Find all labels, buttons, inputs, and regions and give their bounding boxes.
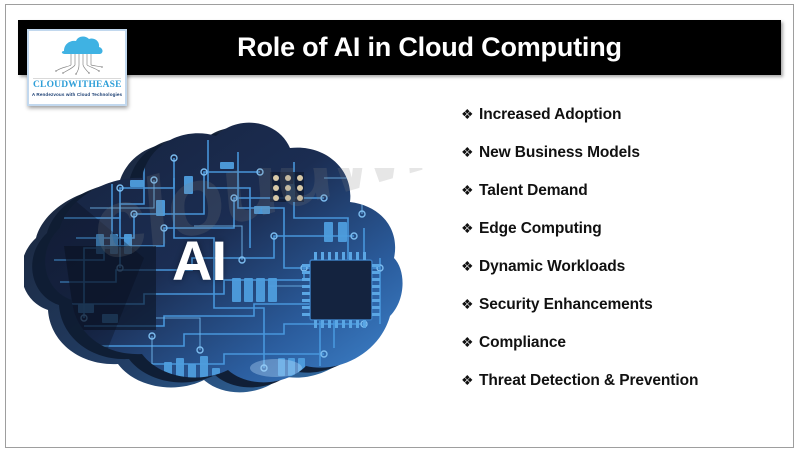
brand-name: CLOUDWITHEASE — [33, 78, 121, 90]
ai-center-label: AI — [172, 233, 226, 289]
list-item-label: Dynamic Workloads — [479, 258, 625, 276]
slide-canvas: Role of AI in Cloud Computing — [0, 0, 800, 454]
page-title: Role of AI in Cloud Computing — [177, 32, 622, 63]
list-item[interactable]: ❖ Security Enhancements — [461, 296, 781, 334]
list-item-label: Compliance — [479, 334, 566, 352]
list-item[interactable]: ❖ Threat Detection & Prevention — [461, 372, 781, 410]
diamond-bullet-icon: ❖ — [461, 335, 479, 349]
brand-tagline: A Rendezvous with Cloud Technologies — [32, 92, 122, 97]
cloud-roots-icon — [40, 33, 114, 77]
list-item[interactable]: ❖ Dynamic Workloads — [461, 258, 781, 296]
key-points-list: ❖ Increased Adoption ❖ New Business Mode… — [461, 106, 781, 410]
list-item-label: Edge Computing — [479, 220, 602, 238]
brand-logo[interactable]: CLOUDWITHEASE A Rendezvous with Cloud Te… — [27, 29, 127, 106]
list-item-label: Threat Detection & Prevention — [479, 372, 698, 390]
list-item-label: Talent Demand — [479, 182, 588, 200]
list-item[interactable]: ❖ Talent Demand — [461, 182, 781, 220]
list-item[interactable]: ❖ New Business Models — [461, 144, 781, 182]
diamond-bullet-icon: ❖ — [461, 183, 479, 197]
diamond-bullet-icon: ❖ — [461, 259, 479, 273]
title-bar: Role of AI in Cloud Computing — [18, 20, 781, 75]
list-item[interactable]: ❖ Edge Computing — [461, 220, 781, 258]
list-item-label: Security Enhancements — [479, 296, 653, 314]
list-item[interactable]: ❖ Increased Adoption — [461, 106, 781, 144]
list-item-label: Increased Adoption — [479, 106, 621, 124]
list-item-label: New Business Models — [479, 144, 640, 162]
list-item[interactable]: ❖ Compliance — [461, 334, 781, 372]
diamond-bullet-icon: ❖ — [461, 107, 479, 121]
diamond-bullet-icon: ❖ — [461, 221, 479, 235]
diamond-bullet-icon: ❖ — [461, 373, 479, 387]
diamond-bullet-icon: ❖ — [461, 297, 479, 311]
diamond-bullet-icon: ❖ — [461, 145, 479, 159]
